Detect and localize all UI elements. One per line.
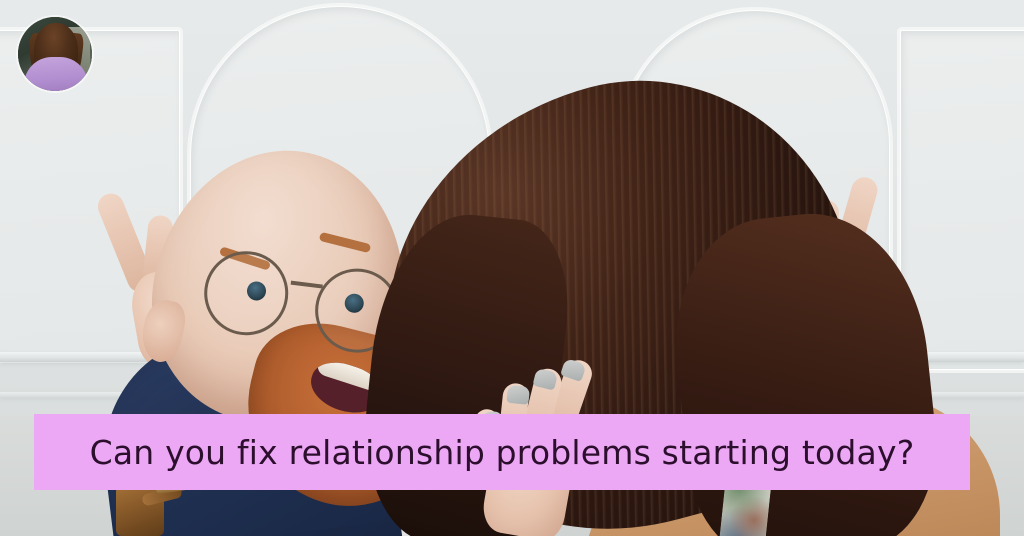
author-avatar[interactable] xyxy=(18,17,92,91)
caption-banner: Can you fix relationship problems starti… xyxy=(34,414,970,490)
hero-image-canvas: Can you fix relationship problems starti… xyxy=(0,0,1024,536)
fingernail xyxy=(506,385,530,405)
caption-text: Can you fix relationship problems starti… xyxy=(90,436,915,469)
glasses-bridge xyxy=(291,281,323,288)
